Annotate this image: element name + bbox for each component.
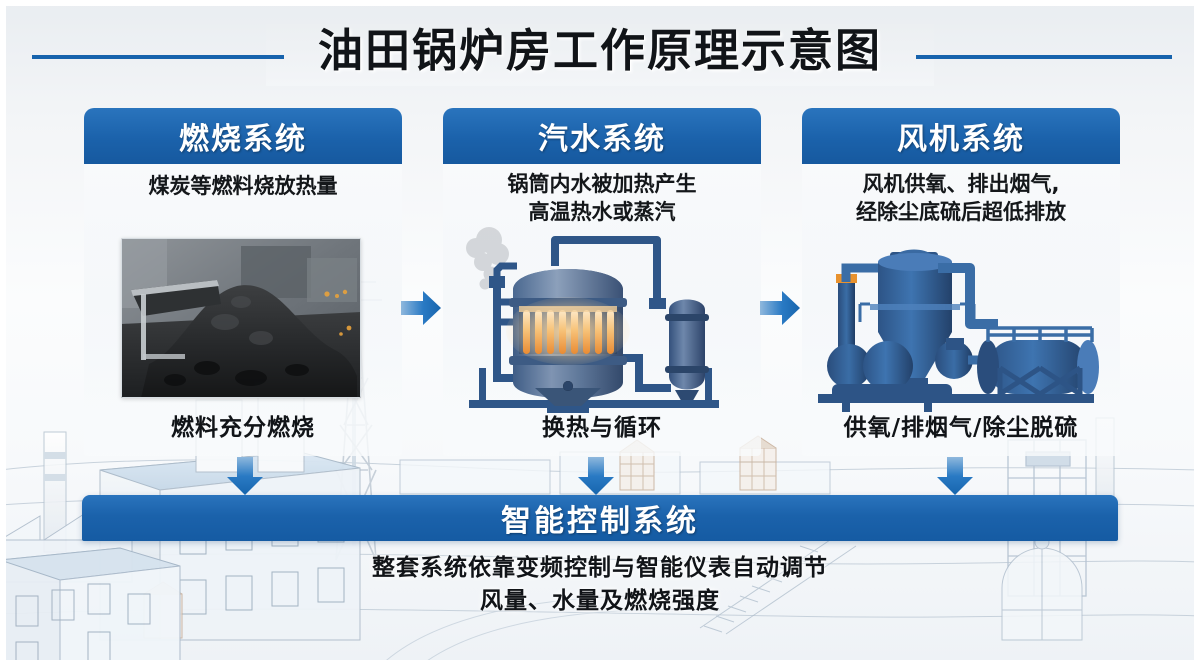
panel-caption: 换热与循环 [447,408,757,442]
title-band: 油田锅炉房工作原理示意图 [0,8,1200,92]
panel-caption: 燃料充分燃烧 [88,408,398,442]
panel-description-line1: 锅筒内水被加热产生 [451,170,753,198]
infographic-canvas: 油田锅炉房工作原理示意图 燃烧系统 煤炭等燃料烧放热量 [0,0,1200,666]
panel-header-label: 汽水系统 [538,114,666,158]
panel-description-line1: 风机供氧、排出烟气, [810,170,1112,198]
arrow-right-icon [399,288,443,328]
panel-header-label: 燃烧系统 [179,114,307,158]
arrow-down-icon [935,455,975,497]
panel-steam-water-system[interactable]: 汽水系统 锅筒内水被加热产生 高温热水或蒸汽 [443,108,761,456]
panel-caption: 供氧/排烟气/除尘脱硫 [806,408,1116,442]
bottom-bar-intelligent-control[interactable]: 智能控制系统 [82,495,1118,541]
bottom-description-line2: 风量、水量及燃烧强度 [0,585,1200,618]
bottom-bar-label: 智能控制系统 [501,496,699,540]
bottom-description-line1: 整套系统依靠变频控制与智能仪表自动调节 [0,552,1200,585]
arrow-right-icon [758,288,802,328]
panel-header-steam-water: 汽水系统 [443,108,761,164]
panel-header-label: 风机系统 [897,114,1025,158]
panel-header-combustion: 燃烧系统 [84,108,402,164]
panel-combustion-system[interactable]: 燃烧系统 煤炭等燃料烧放热量 [84,108,402,456]
panel-description: 煤炭等燃料烧放热量 [92,172,394,200]
boiler-drum-illustration [443,218,761,418]
panel-fan-system[interactable]: 风机系统 风机供氧、排出烟气, 经除尘底硫后超低排放 [802,108,1120,456]
arrow-down-icon [225,455,265,497]
coal-pile-photo [121,238,361,398]
bottom-description: 整套系统依靠变频控制与智能仪表自动调节 风量、水量及燃烧强度 [0,552,1200,618]
arrow-down-icon [576,455,616,497]
fan-dust-collector-illustration [802,218,1120,418]
page-title: 油田锅炉房工作原理示意图 [0,14,1200,79]
panel-header-fan: 风机系统 [802,108,1120,164]
